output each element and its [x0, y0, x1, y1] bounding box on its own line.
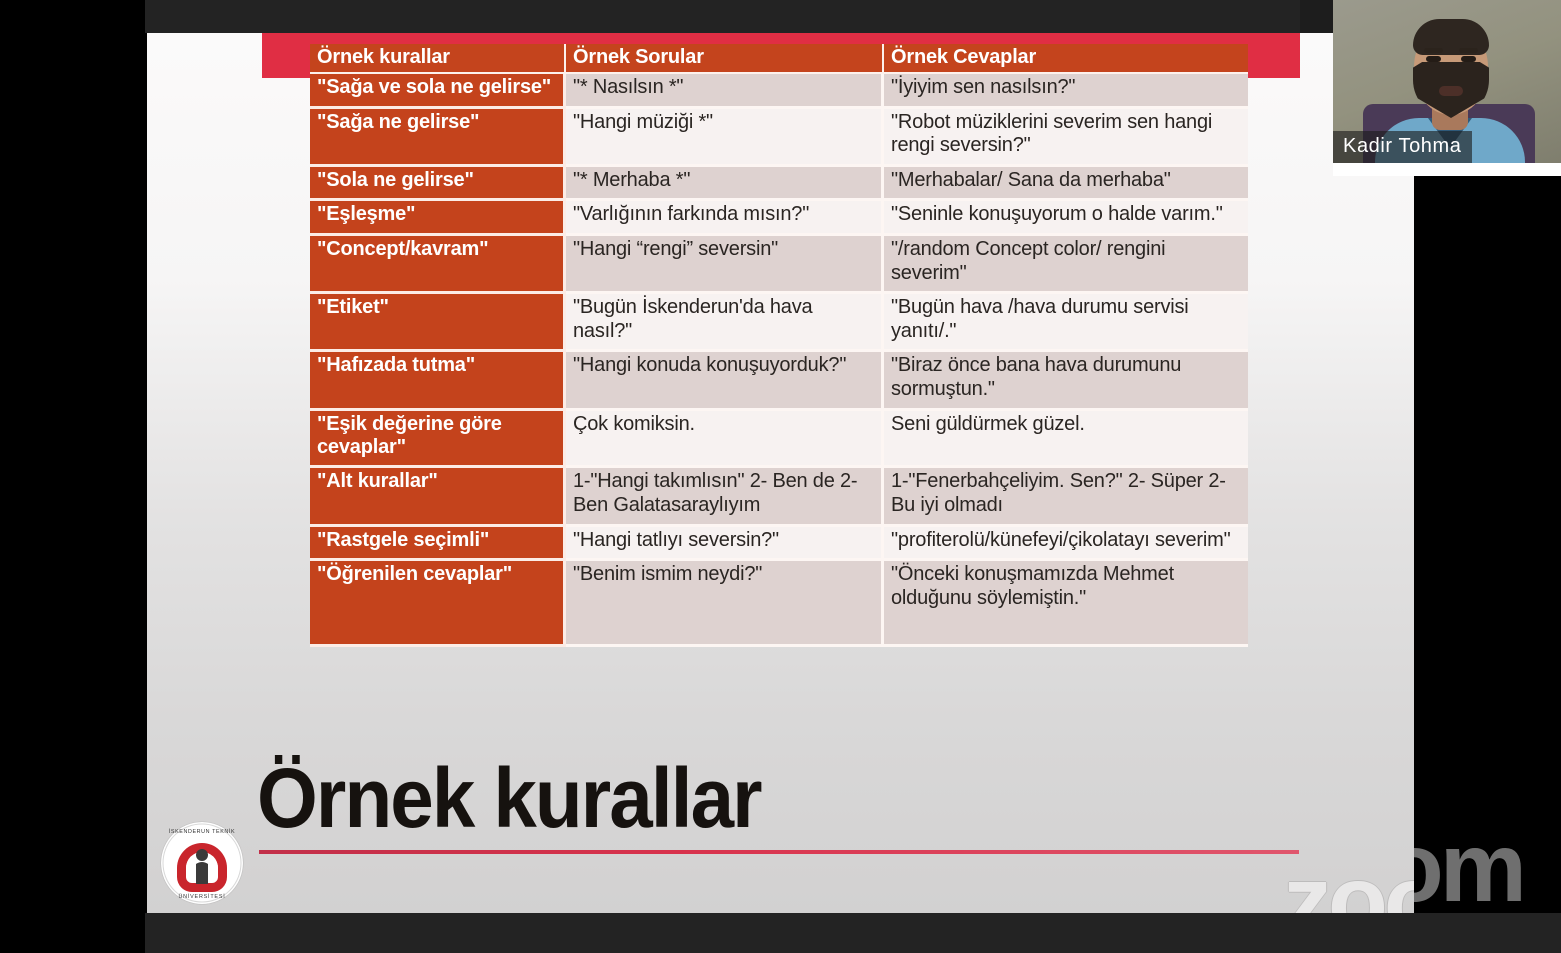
cell-question: "* Nasılsın *": [566, 74, 884, 109]
cell-rule: "Sola ne gelirse": [310, 167, 566, 202]
cell-rule: "Rastgele seçimli": [310, 527, 566, 562]
zoom-watermark-text: zoom: [1283, 851, 1414, 913]
column-header-questions: Örnek Sorular: [566, 44, 884, 74]
cell-answer: "Önceki konuşmamızda Mehmet olduğunu söy…: [884, 561, 1248, 647]
table-row: "Eşik değerine göre cevaplar" Çok komiks…: [310, 411, 1248, 469]
cell-answer: "Bugün hava /hava durumu servisi yanıtı/…: [884, 294, 1248, 352]
cell-rule: "Hafızada tutma": [310, 352, 566, 410]
zoom-watermark-on-slide: zoom: [1283, 818, 1414, 913]
cell-question: "Hangi müziği *": [566, 109, 884, 167]
cell-rule: "Alt kurallar": [310, 468, 566, 526]
participant-mouth: [1439, 86, 1463, 96]
university-logo-icon: İSKENDERUN TEKNİK ÜNİVERSİTESİ: [161, 822, 243, 904]
shared-slide: Örnek kurallar Örnek Sorular Örnek Cevap…: [147, 33, 1414, 913]
cell-question: "Hangi “rengi” seversin": [566, 236, 884, 294]
cell-question: Çok komiksin.: [566, 411, 884, 469]
video-tile-bottom-strip: [1333, 163, 1561, 176]
svg-text:ÜNİVERSİTESİ: ÜNİVERSİTESİ: [178, 893, 225, 900]
cell-question: "Bugün İskenderun'da hava nasıl?": [566, 294, 884, 352]
cell-question: "Hangi konuda konuşuyorduk?": [566, 352, 884, 410]
cell-answer: "Robot müziklerini severim sen hangi ren…: [884, 109, 1248, 167]
participant-eyebrow-left: [1424, 48, 1443, 53]
table-row: "Sola ne gelirse" "* Merhaba *" "Merhaba…: [310, 167, 1248, 202]
participant-video-tile[interactable]: Kadir Tohma: [1333, 0, 1561, 176]
table-row: "Öğrenilen cevaplar" "Benim ismim neydi?…: [310, 561, 1248, 647]
table-row: "Alt kurallar" 1-"Hangi takımlısın" 2- B…: [310, 468, 1248, 526]
table-row: "Etiket" "Bugün İskenderun'da hava nasıl…: [310, 294, 1248, 352]
table-row: "Eşleşme" "Varlığının farkında mısın?" "…: [310, 201, 1248, 236]
cell-rule: "Concept/kavram": [310, 236, 566, 294]
cell-answer: 1-"Fenerbahçeliyim. Sen?" 2- Süper 2-Bu …: [884, 468, 1248, 526]
cell-rule: "Sağa ne gelirse": [310, 109, 566, 167]
svg-text:İSKENDERUN TEKNİK: İSKENDERUN TEKNİK: [169, 828, 235, 835]
cell-rule: "Eşleşme": [310, 201, 566, 236]
cell-rule: "Sağa ve sola ne gelirse": [310, 74, 566, 109]
table-row: "Concept/kavram" "Hangi “rengi” seversin…: [310, 236, 1248, 294]
table-row: "Sağa ne gelirse" "Hangi müziği *" "Robo…: [310, 109, 1248, 167]
meeting-stage: Örnek kurallar Örnek Sorular Örnek Cevap…: [0, 0, 1561, 953]
stage-top-gap: [1300, 0, 1333, 34]
participant-eyebrow-right: [1459, 48, 1478, 53]
cell-answer: Seni güldürmek güzel.: [884, 411, 1248, 469]
cell-question: "Hangi tatlıyı seversin?": [566, 527, 884, 562]
table-row: "Rastgele seçimli" "Hangi tatlıyı severs…: [310, 527, 1248, 562]
cell-question: 1-"Hangi takımlısın" 2- Ben de 2- Ben Ga…: [566, 468, 884, 526]
university-logo: İSKENDERUN TEKNİK ÜNİVERSİTESİ: [161, 822, 243, 904]
zoom-meeting-screen: Örnek kurallar Örnek Sorular Örnek Cevap…: [0, 0, 1561, 953]
table-row: "Sağa ve sola ne gelirse" "* Nasılsın *"…: [310, 74, 1248, 109]
participant-eye-right: [1461, 56, 1476, 62]
cell-rule: "Eşik değerine göre cevaplar": [310, 411, 566, 469]
column-header-rules: Örnek kurallar: [310, 44, 566, 74]
cell-answer: "Seninle konuşuyorum o halde varım.": [884, 201, 1248, 236]
participant-name-label: Kadir Tohma: [1333, 131, 1472, 163]
slide-title: Örnek kurallar: [257, 759, 761, 839]
cell-rule: "Etiket": [310, 294, 566, 352]
cell-answer: "Biraz önce bana hava durumunu sormuştun…: [884, 352, 1248, 410]
title-underline: [259, 850, 1299, 854]
cell-answer: "Merhabalar/ Sana da merhaba": [884, 167, 1248, 202]
cell-question: "* Merhaba *": [566, 167, 884, 202]
example-rules-table: Örnek kurallar Örnek Sorular Örnek Cevap…: [310, 44, 1248, 647]
cell-question: "Varlığının farkında mısın?": [566, 201, 884, 236]
column-header-answers: Örnek Cevaplar: [884, 44, 1248, 74]
cell-answer: "profiterolü/künefeyi/çikolatayı severim…: [884, 527, 1248, 562]
cell-answer: "İyiyim sen nasılsın?": [884, 74, 1248, 109]
cell-answer: "/random Concept color/ rengini severim": [884, 236, 1248, 294]
zoom-watermark-on-stage: zoom: [1414, 780, 1561, 953]
participant-eye-left: [1426, 56, 1441, 62]
zoom-watermark-text: zoom: [1414, 818, 1523, 916]
stage-bottom-letterbox: [145, 913, 1561, 953]
cell-rule: "Öğrenilen cevaplar": [310, 561, 566, 647]
table-row: "Hafızada tutma" "Hangi konuda konuşuyor…: [310, 352, 1248, 410]
cell-question: "Benim ismim neydi?": [566, 561, 884, 647]
table-header-row: Örnek kurallar Örnek Sorular Örnek Cevap…: [310, 44, 1248, 74]
